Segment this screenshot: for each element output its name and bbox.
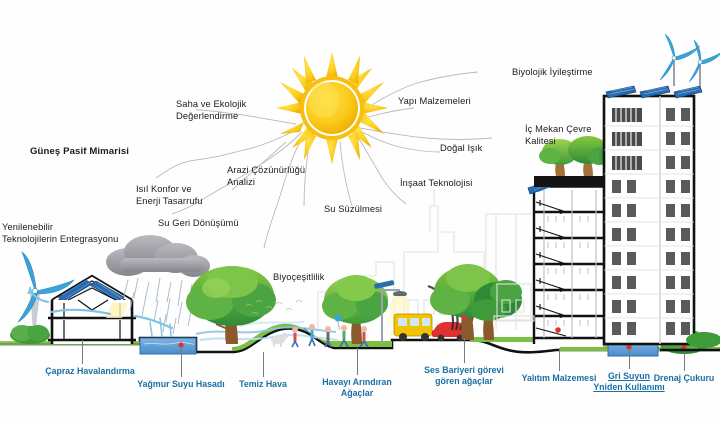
label-drenaj-cukuru: Drenaj Çukuru bbox=[648, 373, 720, 384]
label-havayi-arindiran-agaclar: Havayı Arındıran Ağaçlar bbox=[315, 377, 399, 398]
label-dogal-isik: Doğal Işık bbox=[440, 143, 482, 155]
tick-yagmur-suyu-hasadi bbox=[181, 348, 182, 377]
label-ic-mekan-cevre-kalitesi: İç Mekan Çevre Kalitesi bbox=[525, 124, 592, 147]
label-temiz-hava: Temiz Hava bbox=[232, 379, 294, 390]
label-saha-ve-ekolojik-degerlendirme: Saha ve Ekolojik Değerlendirme bbox=[176, 99, 246, 122]
tick-yalitim-malzemesi bbox=[559, 348, 560, 371]
infographic-canvas: Güneş Pasif Mimarisi Yenilenebilir Tekno… bbox=[0, 0, 720, 427]
label-su-geri-donusumu: Su Geri Dönüşümü bbox=[158, 218, 239, 230]
label-insaat-teknolojisi: İnşaat Teknolojisi bbox=[400, 178, 472, 190]
label-yapi-malzemeleri: Yapı Malzemeleri bbox=[398, 96, 471, 108]
tick-ses-bariyeri-agaclar bbox=[464, 338, 465, 363]
label-capraz-havalandirma: Çapraz Havalandırma bbox=[38, 366, 142, 377]
raindrops bbox=[124, 278, 192, 334]
label-arazi-cozunurlugu-analizi: Arazi Çözünürlüğü Analizi bbox=[227, 165, 305, 188]
label-biyolojik-iyilestirme: Biyolojik İyileştirme bbox=[512, 67, 593, 79]
bus-vehicle bbox=[394, 314, 432, 341]
tick-drenaj-cukuru bbox=[684, 352, 685, 371]
tick-temiz-hava bbox=[263, 352, 264, 377]
label-isil-konfor-ve-enerji-tasarrufu: Isıl Konfor ve Enerji Tasarrufu bbox=[136, 184, 203, 207]
wind-turbines-roof bbox=[660, 34, 720, 86]
sun-icon bbox=[276, 52, 388, 164]
label-yagmur-suyu-hasadi: Yağmur Suyu Hasadı bbox=[131, 379, 231, 390]
label-su-suzulmesi: Su Süzülmesi bbox=[324, 204, 382, 216]
label-biyocesitlilik: Biyoçeşitlilik bbox=[273, 272, 325, 284]
tick-havayi-arindiran-agaclar bbox=[357, 348, 358, 375]
tall-building bbox=[604, 34, 720, 348]
label-ses-bariyeri-gorevi-goren-agaclar: Ses Bariyeri görevi gören ağaçlar bbox=[417, 365, 511, 386]
rainwater-harvest-tank bbox=[140, 318, 196, 354]
tick-gri-suyun-yniden-kullanimi bbox=[629, 350, 630, 369]
tick-capraz-havalandirma bbox=[82, 340, 83, 364]
label-gunes-pasif-mimarisi: Güneş Pasif Mimarisi bbox=[30, 146, 129, 158]
label-yenilenebilir-teknolojilerin-entegrasyonu: Yenilenebilir Teknolojilerin Entegrasyon… bbox=[2, 222, 118, 245]
